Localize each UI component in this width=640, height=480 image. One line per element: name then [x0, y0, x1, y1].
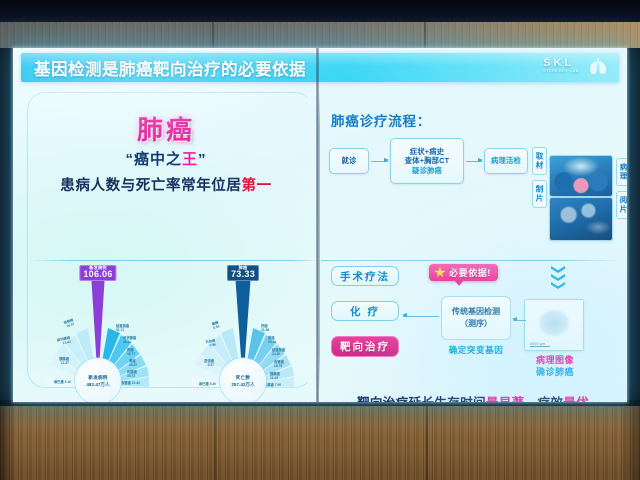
conclusion-text: 靶向治疗延长生存时间最显著，疗效最优 但必须以基因突变分型为前提！ [323, 394, 623, 402]
ring-label: 食管癌 22.40 [121, 382, 165, 386]
treatment-chemo[interactable]: 化 疗 [331, 301, 399, 321]
horizontal-divider-left [29, 260, 319, 261]
gene-test-box: 传统基因检测 （测序） [441, 296, 511, 340]
deaths-highlight-label: 肺癌 73.33 [227, 265, 259, 281]
diagnosis-flow-title: 肺癌诊疗流程： [331, 110, 431, 130]
brand-subtitle: STATE KEY LAB [543, 70, 579, 74]
ring-label: 肝癌36.77 [127, 349, 165, 357]
vlabel-reading: 阅片 [616, 191, 627, 219]
flow-step-workup: 症状+病史 查体+胸部CT 疑诊肺癌 [390, 138, 464, 184]
vlabel-slide-prep: 制片 [532, 180, 547, 208]
ring-label: 胰腺癌11.87 [27, 358, 69, 366]
incidence-text: 患病人数与死亡率常年位居 [60, 178, 241, 194]
hub-value: 482.47万人 [86, 382, 109, 388]
chart-new-cases: 新发病例 106.06 结直肠癌51.71 甲状腺癌46.61 肝癌36.77 … [23, 263, 173, 395]
brand-name: SKL [543, 57, 574, 69]
vertical-divider [319, 90, 320, 390]
flow-arrow-1 [371, 161, 388, 162]
scale-bar-label: 5000 μm [530, 342, 545, 346]
workup-line-3: 疑诊肺癌 [412, 166, 442, 175]
deaths-hub: 死亡数 257.42万人 [220, 358, 266, 402]
treatment-surgery[interactable]: 手术疗法 [331, 266, 399, 286]
ring-label: 宫颈癌5.57 [172, 360, 214, 368]
pathology-caption-1: 病理图像 [536, 355, 574, 365]
star-icon [434, 267, 446, 279]
subtitle-highlight: 王 [182, 151, 198, 168]
upper-wall [0, 22, 640, 48]
highlight-label-value: 106.06 [83, 270, 112, 279]
wall-seam [212, 22, 214, 48]
ring-label: 甲状腺癌46.61 [123, 337, 165, 345]
subtitle-post: ” [198, 151, 207, 168]
vlabel-pathology: 病理 [616, 158, 627, 186]
ring-label: 乳腺癌 7.50 [264, 384, 310, 388]
flow-arrow-2 [466, 161, 482, 162]
flow-step-visit-label: 就诊 [342, 156, 357, 165]
ring-label: 胃癌26.04 [268, 337, 306, 345]
conclusion-l1-hl2: 最优 [563, 396, 589, 402]
ring-label: 食管癌18.75 [274, 361, 314, 369]
hub-value: 257.42万人 [231, 382, 254, 388]
conclusion-l1-a: 靶向治疗延长生存时间 [357, 396, 486, 402]
pathology-lab-photo [550, 198, 612, 240]
badge-label: 必要依据! [449, 266, 491, 279]
new-cases-highlight-label: 新发病例 106.06 [79, 265, 116, 281]
highlight-label-value: 73.33 [231, 270, 255, 279]
display-bezel-seam [316, 48, 319, 402]
brand-logo: SKL STATE KEY LAB [543, 56, 609, 76]
biopsy-label: 病理活检 [491, 156, 521, 165]
ring-label: 结直肠癌51.71 [116, 325, 156, 333]
gene-mutation-caption: 确定突变基因 [436, 344, 516, 356]
down-chevrons [551, 266, 565, 289]
horizontal-divider-right [321, 260, 617, 261]
brand-text: SKL STATE KEY LAB [543, 58, 579, 73]
vlabel-sampling: 取材 [532, 147, 547, 175]
wall-seam [424, 22, 426, 48]
wall-edge-right [620, 406, 640, 480]
workup-line-1: 症状+病史 [410, 147, 444, 156]
subtitle-pre: “癌中之 [125, 151, 182, 168]
treatment-targeted[interactable]: 靶向治疗 [331, 336, 399, 357]
panel-seam [214, 406, 216, 480]
panel-seam [426, 406, 428, 480]
ring-label: 乳腺癌35.72 [127, 371, 169, 379]
video-wall-display: 基因检测是肺癌靶向治疗的必要依据 SKL STATE KEY LAB 肺癌 “癌… [13, 48, 627, 402]
ring-label: 淋巴瘤 9.10 [25, 381, 71, 385]
hub-label: 死亡数 [236, 375, 250, 381]
ceiling [0, 0, 640, 22]
ring-label: 淋巴瘤 5.40 [170, 383, 216, 387]
conclusion-l1-b: ，疗效 [525, 396, 564, 402]
flow-step-visit: 就诊 [329, 148, 369, 174]
tissue-slide-photo: 5000 μm [525, 300, 583, 350]
ring-label: 胰腺癌11.45 [270, 373, 312, 381]
gene-test-line-1: 传统基因检测 [452, 306, 500, 318]
chevron-down-icon [551, 266, 565, 273]
scale-bar [530, 346, 550, 347]
lower-wood-wall [0, 406, 640, 480]
status-badge: 必要依据! [429, 264, 498, 281]
chevron-down-icon [551, 274, 565, 281]
ring-label: 胃癌35.87 [129, 360, 167, 368]
pathology-caption: 病理图像 确诊肺癌 [518, 354, 592, 378]
operating-room-photo [550, 156, 612, 196]
lungs-icon [587, 56, 609, 76]
presentation-slide: 基因检测是肺癌靶向治疗的必要依据 SKL STATE KEY LAB 肺癌 “癌… [13, 48, 627, 402]
rank-first-highlight: 第一 [242, 178, 272, 194]
gene-to-treatment-arrow [403, 316, 439, 317]
page-title: 基因检测是肺癌靶向治疗的必要依据 [34, 56, 306, 80]
gene-test-line-2: （测序） [460, 318, 492, 330]
flow-step-biopsy: 病理活检 [484, 148, 528, 174]
ring-label: 肝癌31.65 [261, 325, 299, 333]
chart-deaths: 肺癌 73.33 肝癌31.65 胃癌26.04 结直肠癌24.00 食管癌18… [168, 263, 318, 395]
incidence-mortality-line: 患病人数与死亡率常年位居第一 [13, 174, 319, 195]
pathology-arrow [513, 320, 526, 321]
wall-edge-left [0, 406, 16, 480]
lung-cancer-title: 肺癌 [13, 110, 319, 147]
pathology-caption-2: 确诊肺癌 [518, 366, 592, 378]
king-of-cancers-subtitle: “癌中之王” [13, 148, 319, 169]
slide-header-bar: 基因检测是肺癌靶向治疗的必要依据 SKL STATE KEY LAB [21, 53, 619, 82]
conclusion-l1-hl1: 最显著 [486, 396, 525, 402]
ring-label: 结直肠癌24.00 [272, 349, 314, 357]
chevron-down-icon [551, 282, 565, 289]
workup-line-2: 查体+胸部CT [405, 156, 450, 165]
new-cases-hub: 新发病例 482.47万人 [75, 358, 121, 402]
hub-label: 新发病例 [88, 375, 107, 381]
